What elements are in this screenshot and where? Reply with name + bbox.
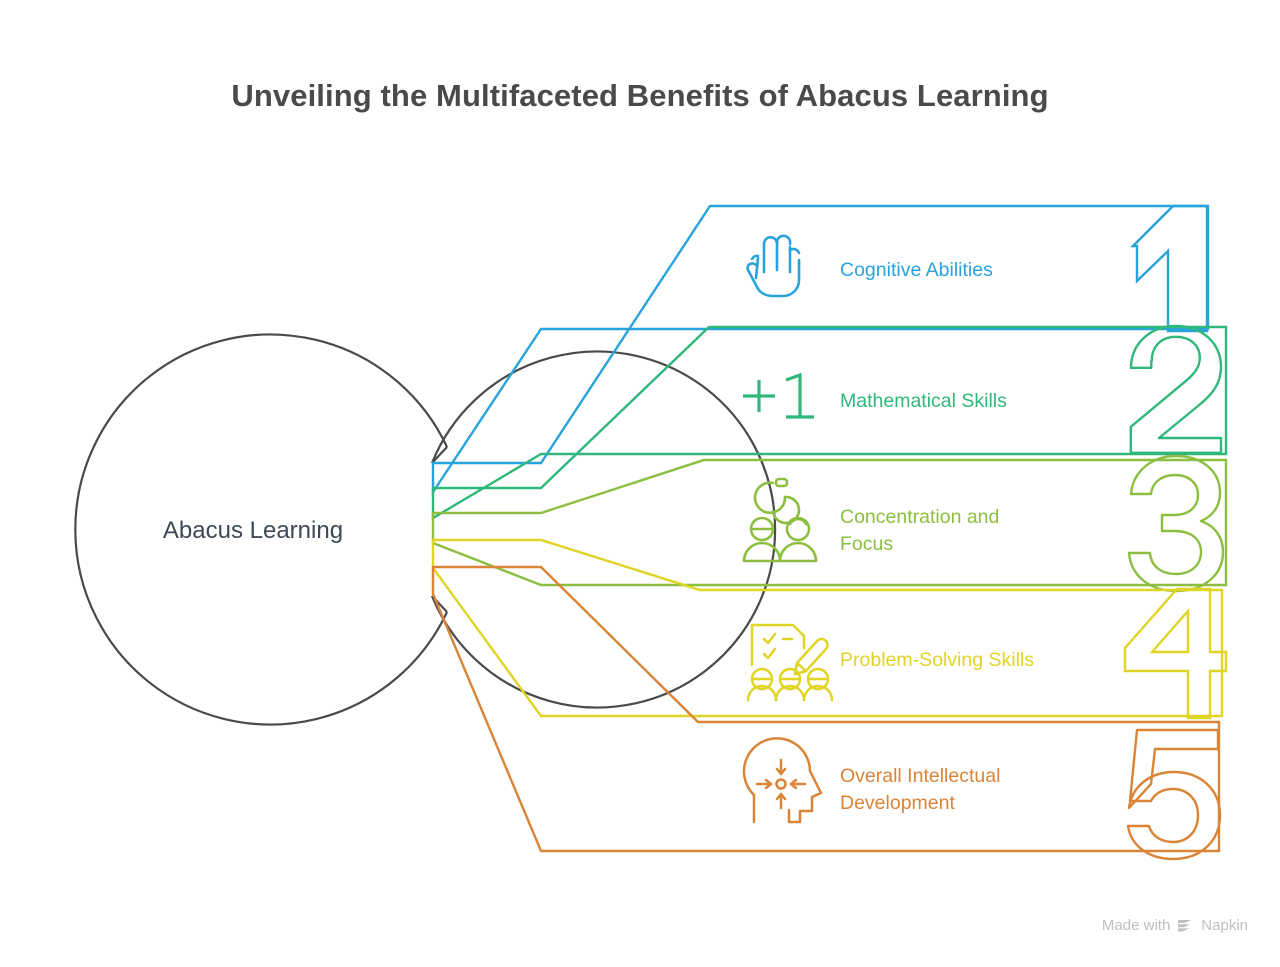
open-hand-icon	[748, 236, 799, 296]
row-label-1: Cognitive Abilities	[840, 259, 993, 281]
watermark-brand: Napkin	[1201, 917, 1248, 934]
head-focus-arrows-icon	[744, 738, 821, 822]
infographic-canvas: Unveiling the Multifaceted Benefits of A…	[0, 0, 1280, 967]
watermark-prefix: Made with	[1102, 917, 1170, 934]
row-label-5-line1: Overall Intellectual	[840, 765, 1000, 787]
people-stopwatch-icon	[744, 479, 816, 561]
row-label-4: Problem-Solving Skills	[840, 649, 1034, 671]
hub-label: Abacus Learning	[163, 517, 343, 544]
plus-one-icon	[743, 375, 814, 417]
row-number-1	[1133, 206, 1207, 331]
row-label-3-line2: Focus	[840, 533, 893, 555]
row-label-5-line2: Development	[840, 792, 955, 814]
row-number-4	[1125, 589, 1226, 718]
hub-inner-ring	[432, 351, 775, 707]
diagram-svg: Abacus Learning Cognitive Abilities	[0, 0, 1280, 967]
checklist-pencil-people-icon	[748, 625, 832, 700]
napkin-watermark: Made with Napkin	[1102, 917, 1248, 934]
row-number-5	[1128, 730, 1220, 859]
row-number-2	[1131, 326, 1221, 453]
row-label-3-line1: Concentration and	[840, 506, 999, 528]
row-band-5[interactable]	[433, 567, 1219, 851]
napkin-logo-icon	[1177, 918, 1194, 933]
row-label-2: Mathematical Skills	[840, 390, 1007, 412]
row-band-1[interactable]	[433, 206, 1208, 492]
row-number-3	[1129, 456, 1223, 591]
row-band-2[interactable]	[433, 327, 1226, 518]
